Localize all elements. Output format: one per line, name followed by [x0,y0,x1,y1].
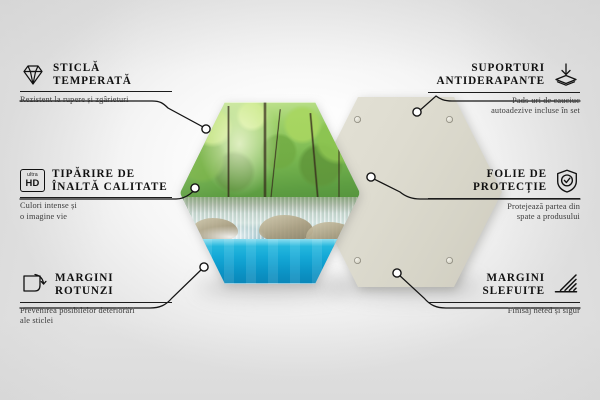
feature-rule [428,198,580,199]
feature-title: TIPĂRIRE DE ÎNALTĂ CALITATE [52,168,168,193]
feature-tiparire-inalta-calitate[interactable]: ultra HD TIPĂRIRE DE ÎNALTĂ CALITATE Cul… [20,168,172,222]
feature-subtitle: Protejează partea din spate a produsului [428,202,580,223]
feature-rule [428,302,580,303]
feature-margini-rotunzi[interactable]: MARGINI ROTUNZI Prevenirea posibilelor d… [20,272,172,327]
ultra-hd-main-text: HD [26,178,40,188]
feature-title: FOLIE DE PROTECȚIE [473,168,547,193]
feature-rule [428,92,580,93]
connector-dot-tiparire [191,184,199,192]
feature-subtitle: Prevenirea posibilelor deteriorări ale s… [20,306,172,327]
feature-margini-slefuite[interactable]: MARGINI SLEFUITE Finisaj neted și sigur [428,272,580,316]
feature-rule [20,197,172,198]
feature-suporturi-antiderapante[interactable]: SUPORTURI ANTIDERAPANTE Pads-uri de cauc… [428,62,580,117]
connector-dot-suporturi [413,108,421,116]
connector-dot-margini-slefuite [393,269,401,277]
connector-dot-margini-rotunzi [200,263,208,271]
feature-subtitle: Rezistent la rupere și zgârieturi [20,95,172,105]
diamond-icon [20,63,46,87]
feature-subtitle: Culori intense și o imagine vie [20,201,172,222]
rounded-corner-icon [20,272,48,298]
feature-rule [20,302,172,303]
infographic-canvas: STICLĂ TEMPERATĂ Rezistent la rupere și … [0,0,600,400]
shield-check-icon [554,168,580,194]
feature-subtitle: Finisaj neted și sigur [428,306,580,316]
hatch-lines-icon [552,272,580,298]
ultra-hd-badge-icon: ultra HD [20,169,45,192]
feature-folie-de-protectie[interactable]: FOLIE DE PROTECȚIE Protejează partea din… [428,168,580,223]
feature-rule [20,91,172,92]
feature-title: SUPORTURI ANTIDERAPANTE [437,62,545,87]
connector-dot-sticla-temperata [202,125,210,133]
feature-sticla-temperata[interactable]: STICLĂ TEMPERATĂ Rezistent la rupere și … [20,62,172,106]
feature-title: STICLĂ TEMPERATĂ [53,62,132,87]
feature-title: MARGINI ROTUNZI [55,272,114,297]
feature-subtitle: Pads-uri de cauciuc autoadezive incluse … [428,96,580,117]
connector-dot-folie [367,173,375,181]
press-pad-icon [552,62,580,88]
feature-title: MARGINI SLEFUITE [482,272,545,297]
